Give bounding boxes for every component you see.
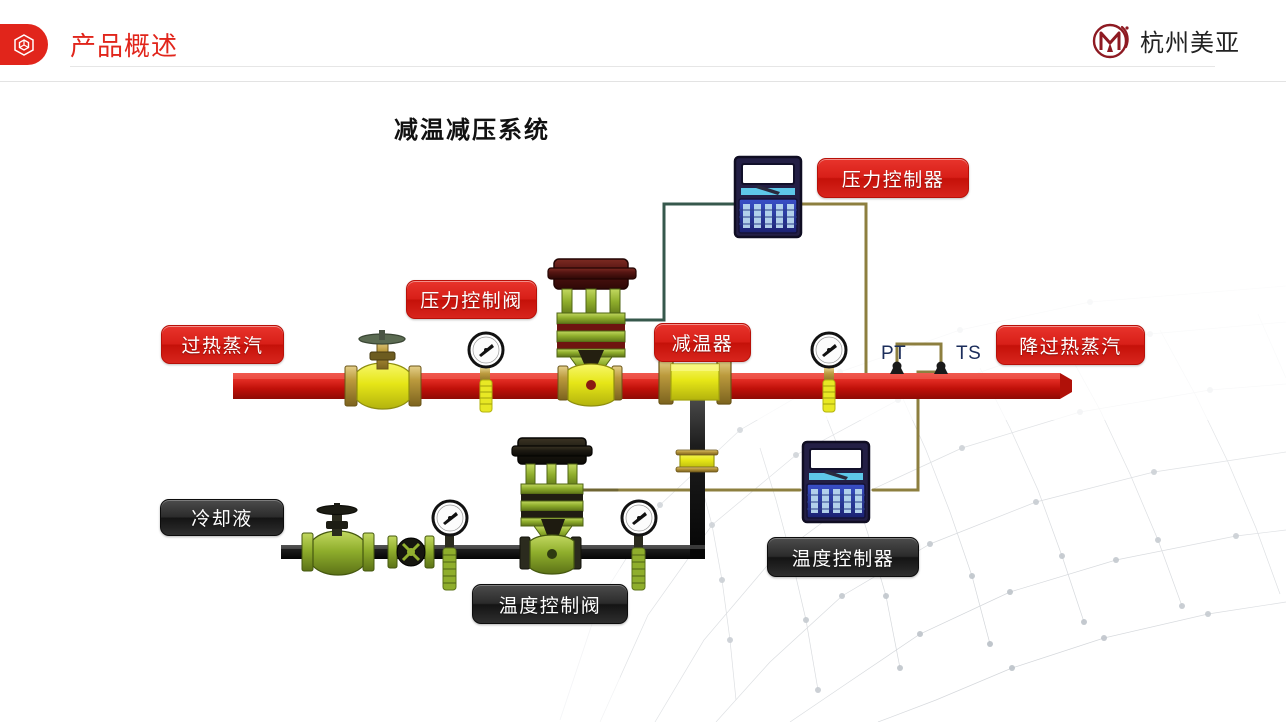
diagram-label-superheated-steam: 过热蒸汽 <box>161 325 284 364</box>
sensor-tag-ts: TS <box>956 343 981 365</box>
brand-name: 杭州美亚 <box>1140 23 1240 58</box>
diagram-label-temp-controller: 温度控制器 <box>767 537 919 577</box>
coolant-gate-valve <box>302 503 374 575</box>
diagram-label-coolant: 冷却液 <box>160 499 284 536</box>
pressure-controller-unit <box>735 157 801 237</box>
meiya-m-logo-icon <box>1089 18 1133 62</box>
inlet-pressure-gauge <box>469 333 503 412</box>
outlet-pressure-gauge <box>812 333 846 412</box>
diagram-label-pressure-control-valve: 压力控制阀 <box>406 280 537 319</box>
sensor-tag-pt: PT <box>881 343 906 365</box>
temp-control-valve-unit <box>512 438 592 574</box>
diagram-label-desuperheated-steam: 降过热蒸汽 <box>996 325 1145 365</box>
page-title: 产品概述 <box>70 26 178 63</box>
inlet-gate-valve <box>345 330 421 409</box>
diagram-title: 减温减压系统 <box>394 110 550 145</box>
page-header: 产品概述 杭州美亚 <box>0 0 1286 82</box>
header-divider <box>0 81 1286 82</box>
coolant-strainer <box>388 536 434 568</box>
diagram-label-temp-control-valve: 温度控制阀 <box>472 584 628 624</box>
ts-sensor <box>934 362 948 375</box>
title-divider <box>70 66 1215 67</box>
brand-logo: 杭州美亚 <box>1089 18 1240 62</box>
cube-hexagon-icon <box>13 33 35 57</box>
diagram-label-desuperheater: 减温器 <box>654 323 751 362</box>
diagram-label-pressure-controller: 压力控制器 <box>817 158 969 198</box>
product-badge <box>0 24 48 65</box>
temp-controller-unit <box>803 442 869 522</box>
